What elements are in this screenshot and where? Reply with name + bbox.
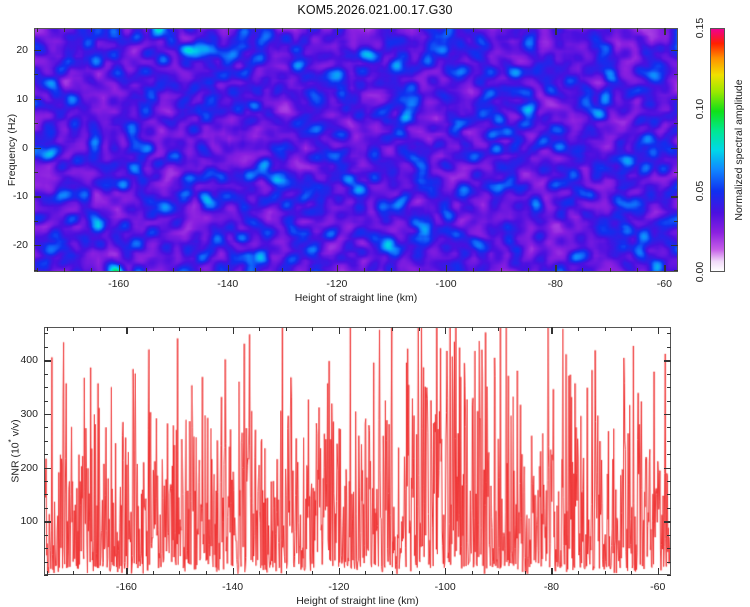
tick-label: 0.05 bbox=[694, 180, 706, 200]
tick-mark bbox=[664, 28, 665, 35]
tick-mark bbox=[44, 481, 48, 482]
tick-label: 10 bbox=[16, 93, 28, 105]
tick-mark bbox=[34, 148, 41, 149]
tick-mark bbox=[664, 468, 671, 469]
tick-mark bbox=[551, 327, 552, 334]
tick-mark bbox=[44, 387, 48, 388]
tick-mark bbox=[44, 401, 48, 402]
tick-label: -140 bbox=[222, 581, 243, 593]
tick-mark bbox=[605, 571, 606, 575]
tick-mark bbox=[578, 571, 579, 575]
tick-mark bbox=[391, 268, 392, 272]
tick-mark bbox=[658, 327, 659, 334]
tick-mark bbox=[100, 327, 101, 331]
tick-mark bbox=[282, 268, 283, 272]
figure-title: KOM5.2026.021.00.17.G30 bbox=[0, 3, 750, 17]
tick-mark bbox=[126, 568, 127, 575]
tick-mark bbox=[339, 327, 340, 334]
tick-mark bbox=[671, 148, 678, 149]
snr-y-label-exponent: * bbox=[7, 439, 16, 442]
tick-mark bbox=[671, 99, 678, 100]
tick-mark bbox=[582, 268, 583, 272]
tick-mark bbox=[498, 571, 499, 575]
tick-mark bbox=[555, 265, 556, 272]
tick-mark bbox=[44, 548, 48, 549]
tick-mark bbox=[310, 28, 311, 32]
tick-mark bbox=[119, 28, 120, 35]
tick-mark bbox=[671, 245, 678, 246]
tick-mark bbox=[200, 28, 201, 32]
tick-mark bbox=[337, 28, 338, 35]
tick-label: 400 bbox=[20, 354, 38, 366]
tick-mark bbox=[667, 548, 671, 549]
tick-mark bbox=[631, 327, 632, 331]
tick-mark bbox=[34, 245, 41, 246]
tick-mark bbox=[34, 172, 38, 173]
tick-mark bbox=[525, 327, 526, 331]
tick-mark bbox=[445, 327, 446, 334]
tick-mark bbox=[44, 575, 48, 576]
tick-mark bbox=[206, 571, 207, 575]
tick-mark bbox=[146, 268, 147, 272]
tick-mark bbox=[473, 28, 474, 32]
tick-mark bbox=[637, 268, 638, 272]
tick-mark bbox=[555, 28, 556, 35]
tick-mark bbox=[528, 268, 529, 272]
tick-mark bbox=[339, 568, 340, 575]
tick-mark bbox=[364, 268, 365, 272]
tick-mark bbox=[34, 221, 38, 222]
tick-mark bbox=[658, 568, 659, 575]
tick-mark bbox=[525, 571, 526, 575]
tick-mark bbox=[286, 327, 287, 331]
tick-label: 0 bbox=[22, 142, 28, 154]
tick-mark bbox=[365, 571, 366, 575]
tick-mark bbox=[664, 360, 671, 361]
tick-mark bbox=[445, 568, 446, 575]
tick-mark bbox=[146, 28, 147, 32]
tick-mark bbox=[173, 28, 174, 32]
colorbar-label: Normalized spectral amplitude bbox=[733, 79, 745, 220]
tick-mark bbox=[667, 562, 671, 563]
tick-mark bbox=[44, 494, 48, 495]
tick-mark bbox=[667, 508, 671, 509]
tick-mark bbox=[44, 333, 48, 334]
tick-mark bbox=[153, 327, 154, 331]
tick-mark bbox=[419, 327, 420, 331]
tick-mark bbox=[73, 571, 74, 575]
colorbar-gradient bbox=[711, 29, 724, 271]
tick-mark bbox=[91, 268, 92, 272]
tick-mark bbox=[664, 265, 665, 272]
snr-y-axis-label: SNR (10* v/v) bbox=[7, 419, 22, 482]
tick-mark bbox=[667, 535, 671, 536]
tick-label: -100 bbox=[436, 278, 457, 290]
tick-label: 100 bbox=[20, 515, 38, 527]
tick-label: -60 bbox=[650, 581, 665, 593]
tick-mark bbox=[337, 265, 338, 272]
tick-mark bbox=[671, 50, 678, 51]
tick-mark bbox=[674, 270, 678, 271]
tick-mark bbox=[179, 327, 180, 331]
tick-mark bbox=[73, 327, 74, 331]
tick-mark bbox=[44, 374, 48, 375]
tick-mark bbox=[391, 28, 392, 32]
tick-mark bbox=[310, 268, 311, 272]
tick-mark bbox=[419, 28, 420, 32]
tick-mark bbox=[255, 268, 256, 272]
tick-mark bbox=[44, 441, 48, 442]
tick-mark bbox=[610, 268, 611, 272]
colorbar bbox=[710, 28, 725, 272]
tick-mark bbox=[664, 521, 671, 522]
tick-mark bbox=[501, 268, 502, 272]
tick-mark bbox=[100, 571, 101, 575]
tick-mark bbox=[419, 268, 420, 272]
tick-label: -140 bbox=[217, 278, 238, 290]
tick-mark bbox=[667, 374, 671, 375]
tick-mark bbox=[446, 28, 447, 35]
tick-mark bbox=[364, 28, 365, 32]
tick-label: -160 bbox=[116, 581, 137, 593]
tick-mark bbox=[498, 327, 499, 331]
tick-mark bbox=[631, 571, 632, 575]
tick-mark bbox=[228, 265, 229, 272]
tick-mark bbox=[233, 568, 234, 575]
tick-label: 0.15 bbox=[694, 18, 706, 38]
tick-mark bbox=[200, 268, 201, 272]
tick-mark bbox=[34, 50, 41, 51]
tick-mark bbox=[44, 468, 51, 469]
spectrogram-y-axis-label: Frequency (Hz) bbox=[6, 114, 18, 186]
tick-mark bbox=[472, 327, 473, 331]
tick-mark bbox=[44, 562, 48, 563]
tick-mark bbox=[667, 401, 671, 402]
tick-mark bbox=[64, 28, 65, 32]
tick-label: 300 bbox=[20, 408, 38, 420]
snr-trace bbox=[45, 328, 670, 574]
tick-mark bbox=[528, 28, 529, 32]
tick-mark bbox=[255, 28, 256, 32]
tick-mark bbox=[473, 268, 474, 272]
tick-mark bbox=[34, 270, 38, 271]
tick-mark bbox=[667, 441, 671, 442]
snr-y-label-suffix: v/v) bbox=[9, 419, 21, 439]
tick-mark bbox=[173, 268, 174, 272]
tick-mark bbox=[119, 265, 120, 272]
tick-mark bbox=[674, 172, 678, 173]
tick-mark bbox=[671, 196, 678, 197]
tick-mark bbox=[179, 571, 180, 575]
tick-mark bbox=[667, 575, 671, 576]
tick-mark bbox=[674, 74, 678, 75]
tick-mark bbox=[286, 571, 287, 575]
tick-mark bbox=[312, 327, 313, 331]
tick-mark bbox=[44, 414, 51, 415]
tick-mark bbox=[126, 327, 127, 334]
tick-mark bbox=[64, 268, 65, 272]
tick-label: -100 bbox=[435, 581, 456, 593]
tick-mark bbox=[44, 347, 48, 348]
tick-mark bbox=[501, 28, 502, 32]
snr-panel bbox=[44, 327, 671, 575]
tick-mark bbox=[44, 427, 48, 428]
snr-x-axis-label: Height of straight line (km) bbox=[296, 595, 419, 607]
tick-mark bbox=[674, 123, 678, 124]
tick-mark bbox=[206, 327, 207, 331]
tick-mark bbox=[582, 28, 583, 32]
tick-mark bbox=[578, 327, 579, 331]
tick-mark bbox=[392, 571, 393, 575]
tick-mark bbox=[667, 427, 671, 428]
tick-mark bbox=[34, 74, 38, 75]
tick-mark bbox=[34, 99, 41, 100]
tick-mark bbox=[282, 28, 283, 32]
tick-label: 0.10 bbox=[694, 99, 706, 119]
snr-y-label-prefix: SNR (10 bbox=[9, 442, 21, 482]
tick-label: -20 bbox=[13, 239, 28, 251]
tick-mark bbox=[259, 327, 260, 331]
tick-mark bbox=[47, 327, 48, 331]
tick-mark bbox=[551, 568, 552, 575]
tick-label: -60 bbox=[657, 278, 672, 290]
tick-mark bbox=[365, 327, 366, 331]
tick-mark bbox=[667, 333, 671, 334]
tick-label: -120 bbox=[328, 581, 349, 593]
spectrogram-image bbox=[35, 29, 677, 271]
tick-label: -80 bbox=[548, 278, 563, 290]
tick-mark bbox=[667, 454, 671, 455]
tick-mark bbox=[44, 454, 48, 455]
tick-mark bbox=[446, 265, 447, 272]
tick-mark bbox=[667, 347, 671, 348]
tick-mark bbox=[605, 327, 606, 331]
tick-mark bbox=[392, 327, 393, 331]
tick-mark bbox=[312, 571, 313, 575]
tick-mark bbox=[153, 571, 154, 575]
tick-label: -10 bbox=[13, 190, 28, 202]
tick-mark bbox=[259, 571, 260, 575]
tick-mark bbox=[91, 28, 92, 32]
tick-mark bbox=[610, 28, 611, 32]
tick-mark bbox=[34, 196, 41, 197]
tick-mark bbox=[419, 571, 420, 575]
tick-mark bbox=[472, 571, 473, 575]
tick-label: -80 bbox=[544, 581, 559, 593]
tick-label: 200 bbox=[20, 462, 38, 474]
tick-label: 0.00 bbox=[694, 262, 706, 282]
tick-mark bbox=[44, 360, 51, 361]
tick-mark bbox=[37, 28, 38, 32]
tick-mark bbox=[44, 521, 51, 522]
tick-mark bbox=[228, 28, 229, 35]
tick-mark bbox=[44, 508, 48, 509]
tick-label: -120 bbox=[326, 278, 347, 290]
tick-mark bbox=[637, 28, 638, 32]
tick-mark bbox=[34, 123, 38, 124]
tick-mark bbox=[667, 494, 671, 495]
tick-mark bbox=[674, 221, 678, 222]
tick-label: -160 bbox=[108, 278, 129, 290]
figure-root: KOM5.2026.021.00.17.G30 -160-140-120-100… bbox=[0, 0, 750, 600]
tick-mark bbox=[667, 387, 671, 388]
tick-mark bbox=[44, 535, 48, 536]
tick-label: 20 bbox=[16, 44, 28, 56]
tick-mark bbox=[664, 414, 671, 415]
spectrogram-panel bbox=[34, 28, 678, 272]
tick-mark bbox=[233, 327, 234, 334]
tick-mark bbox=[667, 481, 671, 482]
spectrogram-x-axis-label: Height of straight line (km) bbox=[295, 292, 418, 304]
